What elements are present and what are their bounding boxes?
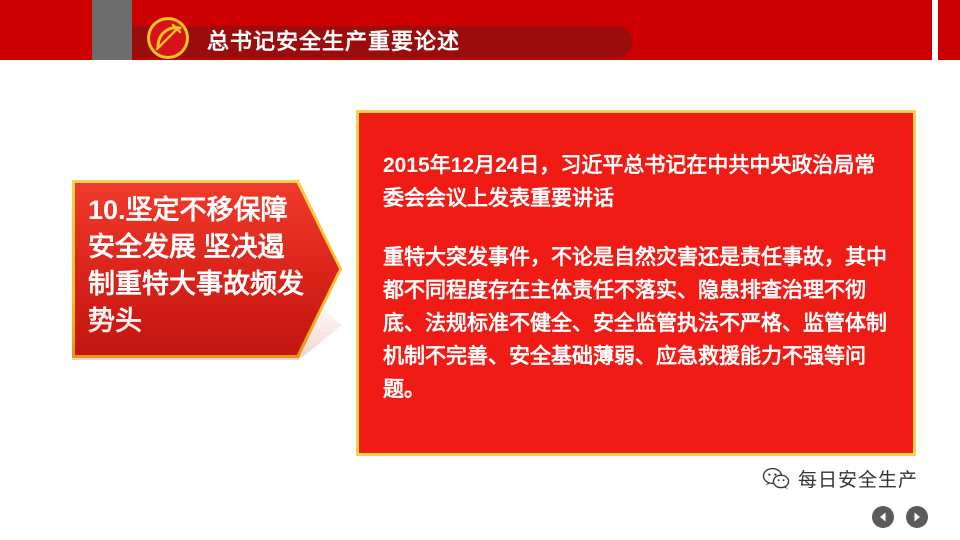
slide-canvas: 总书记安全生产重要论述 10.坚定不移保障安全发展 坚决遏制重特大事故频发势头 … (0, 0, 960, 540)
header-red-block-left (0, 0, 92, 60)
header-right-gap (932, 0, 938, 60)
navigation-buttons[interactable] (872, 506, 928, 528)
party-emblem-icon (140, 16, 196, 60)
page-title: 总书记安全生产重要论述 (207, 28, 460, 56)
next-arrow-icon[interactable] (906, 506, 928, 528)
arrow-banner-reflection (72, 290, 342, 360)
watermark-text: 每日安全生产 (798, 465, 918, 492)
prev-arrow-icon[interactable] (872, 506, 894, 528)
quote-body-paragraph: 重特大突发事件，不论是自然灾害还是责任事故，其中都不同程度存在主体责任不落实、隐… (383, 241, 893, 406)
watermark: 每日安全生产 (762, 465, 918, 492)
header-bar: 总书记安全生产重要论述 (0, 0, 960, 68)
wechat-icon (762, 467, 790, 491)
content-panel-inner: 2015年12月24日，习近平总书记在中共中央政治局常委会会议上发表重要讲话 重… (383, 149, 893, 406)
quote-source-paragraph: 2015年12月24日，习近平总书记在中共中央政治局常委会会议上发表重要讲话 (383, 149, 893, 215)
header-underline (0, 60, 960, 68)
content-panel: 2015年12月24日，习近平总书记在中共中央政治局常委会会议上发表重要讲话 重… (356, 110, 916, 456)
header-gray-block (92, 0, 132, 60)
